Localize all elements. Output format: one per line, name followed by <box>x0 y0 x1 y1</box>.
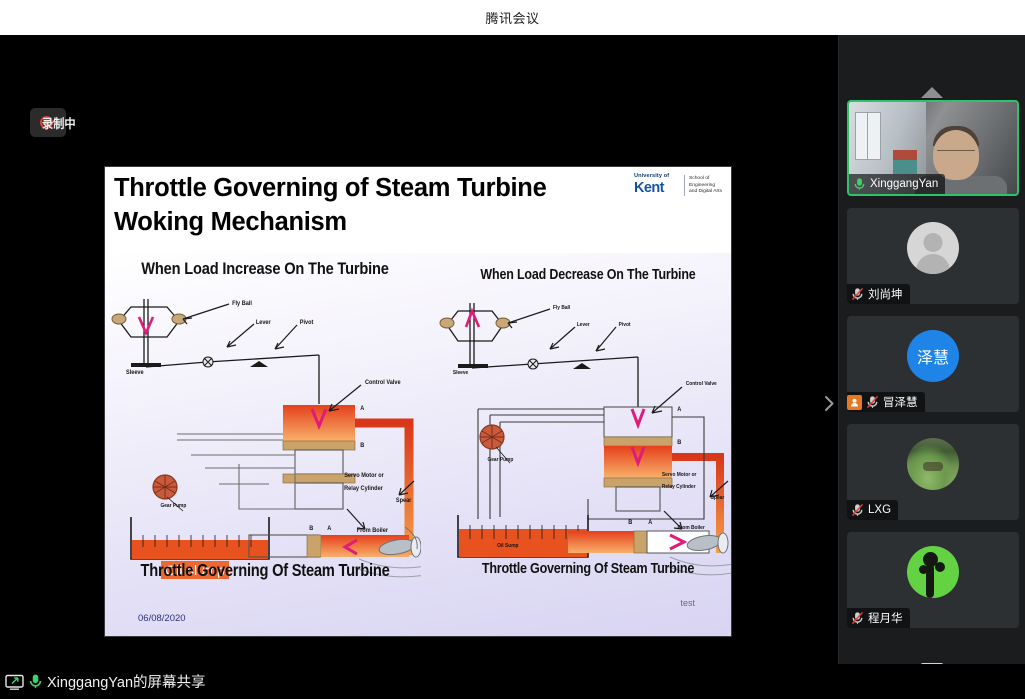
label-port-b-low-r: B <box>628 519 632 526</box>
label-lever-r: Lever <box>577 322 590 328</box>
participant-tile-liushangkun[interactable]: 刘尚坤 <box>847 208 1019 304</box>
participant-namebar: 程月华 <box>847 608 910 628</box>
label-from-boiler: From Boiler <box>357 527 388 534</box>
slide-footer-note: test <box>680 598 695 608</box>
label-relay-cylinder-r: Relay Cylinder <box>662 484 696 490</box>
initials-avatar: 泽慧 <box>907 330 959 382</box>
mic-muted-icon <box>851 287 864 301</box>
photo-avatar <box>907 438 959 490</box>
label-pivot-r: Pivot <box>619 322 631 328</box>
participant-name: XinggangYan <box>870 178 938 190</box>
photo-avatar <box>907 546 959 598</box>
participant-tile-chengyuehua[interactable]: 程月华 <box>847 532 1019 628</box>
participant-namebar: LXG <box>847 500 898 520</box>
mic-muted-icon <box>851 503 864 517</box>
label-port-b-mid: B <box>360 442 364 449</box>
label-servo-motor-r: Servo Motor or <box>662 472 697 478</box>
meeting-window: 腾讯会议 录制中 Throttle Governing of Steam Tur… <box>0 0 1025 699</box>
logo-divider <box>684 175 685 196</box>
participant-namebar: 刘尚坤 <box>847 284 910 304</box>
participant-name: LXG <box>868 504 891 516</box>
participant-name: 冒泽慧 <box>883 394 918 410</box>
participant-tile-xinggangyan[interactable]: XinggangYan <box>847 100 1019 196</box>
diagram-left-footer: Throttle Governing Of Steam Turbine <box>134 560 396 581</box>
participant-rail: XinggangYan 刘尚坤 泽慧 <box>838 35 1025 664</box>
screen-share-label: XinggangYan的屏幕共享 <box>47 671 206 692</box>
label-fly-ball-r: Fly Ball <box>553 305 570 311</box>
logo-school-line1: School of <box>689 176 722 183</box>
participant-tile-maozehui[interactable]: 泽慧 冒泽慧 <box>847 316 1019 412</box>
slide-title: Throttle Governing of Steam Turbine Woki… <box>114 172 629 239</box>
university-of-kent-logo: University of Kent School of Engineering… <box>634 174 724 202</box>
mic-muted-icon <box>851 611 864 625</box>
label-sleeve: Sleeve <box>126 369 144 376</box>
label-from-boiler-r: From Boiler <box>678 525 705 531</box>
default-avatar <box>907 222 959 274</box>
label-oil-sump-r: Oil Sump <box>497 543 518 549</box>
screen-share-bar: XinggangYan的屏幕共享 <box>0 664 1025 699</box>
mic-on-icon <box>853 177 866 191</box>
label-port-a-low: A <box>327 525 331 532</box>
recording-indicator: 录制中 <box>30 108 66 137</box>
participant-tile-lxg[interactable]: LXG <box>847 424 1019 520</box>
diagram-load-increase: When Load Increase On The Turbine <box>109 259 421 599</box>
mic-on-icon <box>28 673 43 690</box>
recording-label: 录制中 <box>42 113 76 132</box>
label-fly-ball: Fly Ball <box>232 300 252 307</box>
label-port-a-top: A <box>360 405 364 412</box>
host-badge-icon <box>847 395 862 410</box>
shared-screen-stage: 录制中 Throttle Governing of Steam Turbine … <box>0 35 838 664</box>
label-control-valve: Control Valve <box>365 379 401 386</box>
triangle-up-icon <box>921 87 943 98</box>
mic-muted-icon <box>866 395 879 409</box>
label-port-a-low-r: A <box>648 519 652 526</box>
label-lever: Lever <box>256 319 271 326</box>
label-pivot: Pivot <box>300 319 314 326</box>
label-spear: Spear <box>396 497 411 504</box>
participant-namebar: XinggangYan <box>849 174 945 194</box>
title-bar: 腾讯会议 <box>0 0 1025 35</box>
next-slide-chevron-icon[interactable] <box>820 390 838 416</box>
label-port-b-low: B <box>309 525 313 532</box>
label-control-valve-r: Control Valve <box>686 381 717 387</box>
app-title: 腾讯会议 <box>485 8 539 27</box>
label-spear-r: Spear <box>711 495 724 501</box>
label-gear-pump-r: Gear Pump <box>487 457 513 463</box>
participant-name: 程月华 <box>868 610 903 626</box>
logo-school-line3: and Digital Arts <box>689 189 722 196</box>
diagram-right-footer: Throttle Governing Of Steam Turbine <box>462 560 714 577</box>
participant-namebar: 冒泽慧 <box>847 392 925 412</box>
label-port-a-top-r: A <box>677 406 681 413</box>
diagram-right-drawing <box>438 267 732 597</box>
logo-kent-text: Kent <box>634 181 680 196</box>
diagram-load-decrease: When Load Decrease On The Turbine <box>438 267 732 597</box>
slide-date: 06/08/2020 <box>138 613 186 624</box>
presentation-slide: Throttle Governing of Steam Turbine Woki… <box>104 166 732 637</box>
label-port-b-mid-r: B <box>677 439 681 446</box>
label-sleeve-r: Sleeve <box>453 370 468 376</box>
label-relay-cylinder: Relay Cylinder <box>344 485 383 492</box>
diagram-left-drawing <box>109 259 421 599</box>
participant-name: 刘尚坤 <box>868 286 903 302</box>
label-servo-motor: Servo Motor or <box>344 472 384 479</box>
logo-university-text: University of <box>634 174 680 180</box>
screen-share-icon <box>5 674 24 690</box>
label-gear-pump: Gear Pump <box>160 503 186 509</box>
